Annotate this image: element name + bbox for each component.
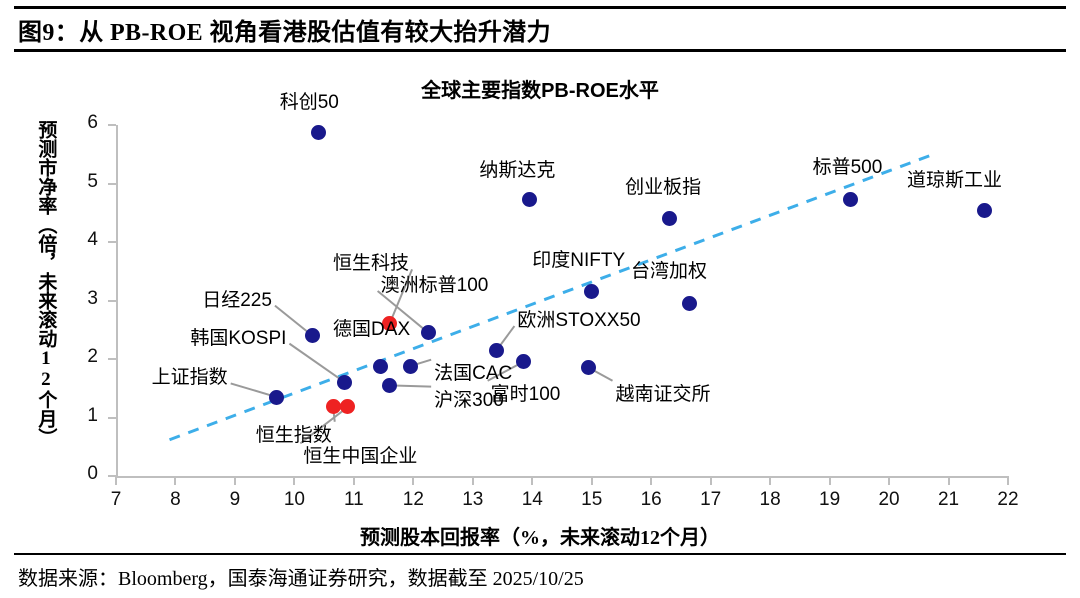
x-axis-tick-label: 13: [453, 489, 493, 511]
data-point[interactable]: [581, 360, 596, 375]
x-axis-tick-label: 18: [750, 489, 790, 511]
x-axis-tick: [234, 476, 236, 485]
data-point-label: 越南证交所: [616, 379, 711, 406]
data-point-label: 日经225: [202, 285, 272, 312]
x-axis-tick: [472, 476, 474, 485]
x-axis-tick: [531, 476, 533, 485]
x-axis-tick-label: 9: [215, 489, 255, 511]
x-axis-tick: [888, 476, 890, 485]
data-point[interactable]: [340, 399, 355, 414]
x-axis-tick: [1007, 476, 1009, 485]
x-axis-tick-label: 11: [334, 489, 374, 511]
y-axis-tick-label: 0: [64, 463, 98, 485]
x-axis-tick-label: 22: [988, 489, 1028, 511]
x-axis-tick: [710, 476, 712, 485]
data-point[interactable]: [373, 359, 388, 374]
x-axis-tick-label: 20: [869, 489, 909, 511]
x-axis-tick: [174, 476, 176, 485]
x-axis-tick-label: 17: [691, 489, 731, 511]
source-note: 数据来源：Bloomberg，国泰海通证券研究，数据截至 2025/10/25: [18, 562, 1058, 591]
footer-rule: [14, 553, 1066, 555]
x-axis-tick-label: 15: [572, 489, 612, 511]
y-axis-tick: [108, 417, 116, 419]
x-axis-tick-label: 7: [96, 489, 136, 511]
data-point[interactable]: [662, 211, 677, 226]
y-axis-line: [116, 125, 118, 476]
y-axis-tick-label: 1: [64, 405, 98, 427]
x-axis-tick: [650, 476, 652, 485]
y-axis-tick-label: 5: [64, 171, 98, 193]
data-point-label: 印度NIFTY: [532, 245, 625, 272]
y-axis-tick: [108, 358, 116, 360]
data-point-label: 德国DAX: [333, 314, 410, 341]
figure-container: 图9：从 PB-ROE 视角看港股估值有较大抬升潜力 全球主要指数PB-ROE水…: [0, 0, 1080, 598]
scatter-plot: 012345678910111213141516171819202122科创50…: [0, 0, 1080, 598]
x-axis-tick: [948, 476, 950, 485]
y-axis-tick-label: 4: [64, 229, 98, 251]
x-axis-line: [116, 476, 1008, 478]
data-point-label: 澳洲标普100: [381, 270, 489, 297]
y-axis-tick: [108, 241, 116, 243]
data-point[interactable]: [337, 375, 352, 390]
data-point-label: 标普500: [813, 152, 883, 179]
data-point-label: 韩国KOSPI: [190, 323, 286, 350]
y-axis-tick-label: 6: [64, 112, 98, 134]
x-axis-tick: [115, 476, 117, 485]
data-point[interactable]: [403, 359, 418, 374]
data-point-label: 欧洲STOXX50: [517, 305, 640, 332]
y-axis-tick: [108, 183, 116, 185]
y-axis-tick-label: 3: [64, 288, 98, 310]
data-point[interactable]: [382, 378, 397, 393]
data-point-label: 创业板指: [625, 172, 701, 199]
x-axis-tick-label: 12: [393, 489, 433, 511]
x-axis-tick: [769, 476, 771, 485]
x-axis-tick-label: 21: [929, 489, 969, 511]
label-leader-line: [289, 344, 345, 383]
data-point[interactable]: [269, 390, 284, 405]
data-point[interactable]: [311, 125, 326, 140]
data-point-label: 纳斯达克: [479, 155, 555, 182]
x-axis-tick: [412, 476, 414, 485]
data-point-label: 上证指数: [152, 362, 228, 389]
x-axis-tick-label: 16: [631, 489, 671, 511]
data-point-label: 沪深300: [434, 385, 504, 412]
data-point[interactable]: [516, 354, 531, 369]
data-point[interactable]: [584, 284, 599, 299]
data-point[interactable]: [682, 296, 697, 311]
data-point-label: 恒生中国企业: [303, 441, 417, 468]
data-point[interactable]: [326, 399, 341, 414]
data-point[interactable]: [843, 192, 858, 207]
data-point[interactable]: [489, 343, 504, 358]
data-point-label: 台湾加权: [631, 256, 707, 283]
x-axis-tick: [829, 476, 831, 485]
x-axis-tick-label: 8: [155, 489, 195, 511]
x-axis-tick: [353, 476, 355, 485]
x-axis-tick: [293, 476, 295, 485]
x-axis-tick: [591, 476, 593, 485]
y-axis-tick: [108, 124, 116, 126]
data-point-label: 科创50: [280, 87, 339, 114]
x-axis-tick-label: 10: [274, 489, 314, 511]
y-axis-tick-label: 2: [64, 346, 98, 368]
data-point-label: 道琼斯工业: [907, 165, 1002, 192]
data-point[interactable]: [305, 328, 320, 343]
x-axis-tick-label: 14: [512, 489, 552, 511]
data-point[interactable]: [522, 192, 537, 207]
x-axis-tick-label: 19: [810, 489, 850, 511]
data-point[interactable]: [977, 203, 992, 218]
y-axis-tick: [108, 300, 116, 302]
data-point[interactable]: [421, 325, 436, 340]
